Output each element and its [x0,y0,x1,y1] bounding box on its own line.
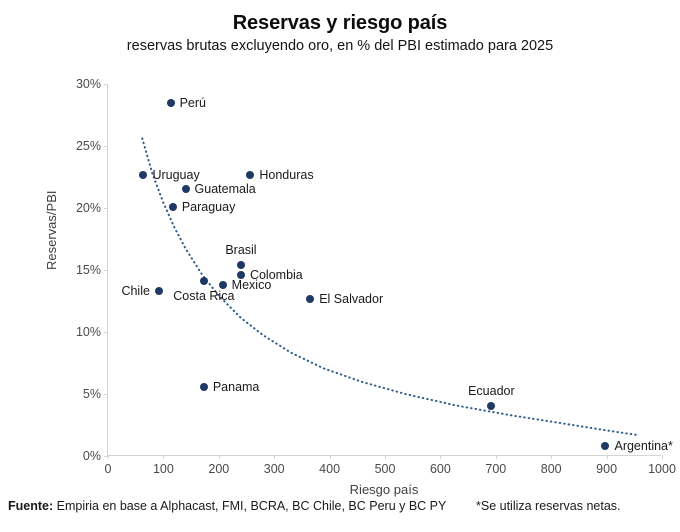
x-axis-tick-mark [607,455,608,459]
x-axis-tick-label: 700 [485,462,506,476]
x-axis-tick-label: 400 [319,462,340,476]
chart-title: Reservas y riesgo país [0,12,680,35]
data-point[interactable] [246,171,254,179]
y-axis-tick-mark [104,84,108,85]
x-axis-tick-label: 800 [541,462,562,476]
data-point[interactable] [169,203,177,211]
y-axis-tick-label: 0% [83,449,101,463]
x-axis-tick-mark [163,455,164,459]
x-axis-tick-mark [274,455,275,459]
data-point-label: Brasil [225,243,256,257]
y-axis-tick-label: 25% [76,139,101,153]
x-axis-title: Riesgo país [107,482,661,497]
plot-inner: 0%5%10%15%20%25%30%010020030040050060070… [108,84,661,455]
data-point-label: Argentina* [614,439,672,453]
data-point[interactable] [219,281,227,289]
data-point[interactable] [200,383,208,391]
x-axis-tick-mark [385,455,386,459]
data-point[interactable] [167,99,175,107]
x-axis-tick-mark [496,455,497,459]
y-axis-tick-label: 20% [76,201,101,215]
y-axis-tick-label: 15% [76,263,101,277]
y-axis-tick-label: 5% [83,387,101,401]
y-axis-tick-mark [104,270,108,271]
data-point[interactable] [155,287,163,295]
data-point-label: El Salvador [319,292,383,306]
x-axis-tick-mark [662,455,663,459]
x-axis-tick-label: 900 [596,462,617,476]
plot-area: 0%5%10%15%20%25%30%010020030040050060070… [107,84,661,456]
footer-source-label: Fuente: [8,499,53,513]
data-point-label: Guatemala [195,182,256,196]
footer-source-text: Empiria en base a Alphacast, FMI, BCRA, … [53,499,446,513]
data-point[interactable] [139,171,147,179]
trendline [108,84,661,455]
y-axis-tick-label: 30% [76,77,101,91]
x-axis-tick-label: 100 [153,462,174,476]
x-axis-tick-label: 1000 [648,462,676,476]
data-point[interactable] [182,185,190,193]
data-point-label: Mexico [232,278,272,292]
data-point-label: Perú [180,96,206,110]
data-point-label: Costa Rica [173,289,234,303]
chart-subtitle: reservas brutas excluyendo oro, en % del… [0,38,680,54]
x-axis-tick-mark [330,455,331,459]
data-point-label: Paraguay [182,200,236,214]
data-point[interactable] [306,295,314,303]
footer-source: Fuente: Empiria en base a Alphacast, FMI… [8,499,446,513]
x-axis-tick-label: 300 [264,462,285,476]
data-point-label: Uruguay [152,168,199,182]
y-axis-tick-label: 10% [76,325,101,339]
data-point[interactable] [237,261,245,269]
x-axis-tick-mark [551,455,552,459]
data-point-label: Panama [213,380,260,394]
x-axis-tick-mark [440,455,441,459]
y-axis-title: Reservas/PBI [44,191,59,270]
x-axis-tick-label: 500 [375,462,396,476]
x-axis-tick-mark [108,455,109,459]
x-axis-tick-label: 200 [208,462,229,476]
data-point[interactable] [200,277,208,285]
y-axis-tick-mark [104,146,108,147]
data-point-label: Ecuador [468,384,515,398]
y-axis-tick-mark [104,332,108,333]
x-axis-tick-label: 0 [105,462,112,476]
data-point[interactable] [601,442,609,450]
data-point[interactable] [487,402,495,410]
data-point-label: Chile [121,284,150,298]
scatter-chart: Reservas y riesgo país reservas brutas e… [0,0,680,532]
y-axis-tick-mark [104,208,108,209]
data-point-label: Honduras [259,168,313,182]
x-axis-tick-label: 600 [430,462,451,476]
x-axis-tick-mark [219,455,220,459]
footer-note: *Se utiliza reservas netas. [476,499,621,513]
y-axis-tick-mark [104,394,108,395]
